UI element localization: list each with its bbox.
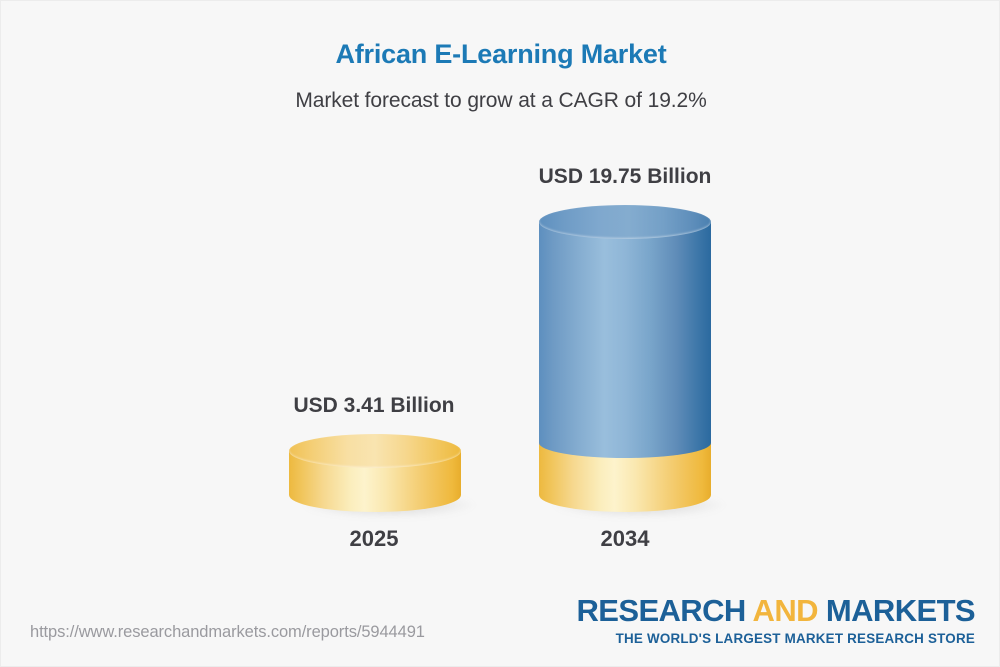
category-label-2025: 2025 <box>254 526 494 552</box>
plot-area: USD 3.41 Billion USD 19.75 Billion <box>1 131 1000 571</box>
bar-top-cap-2034 <box>539 205 711 239</box>
bar-top-cap-2025 <box>289 434 461 468</box>
brand-logo-research: RESEARCH <box>577 593 753 628</box>
chart-canvas: African E-Learning Market Market forecas… <box>0 0 1000 667</box>
bar-cylinder-2034[interactable] <box>539 205 711 512</box>
brand-logo[interactable]: RESEARCH AND MARKETS THE WORLD'S LARGEST… <box>577 595 976 645</box>
value-label-2025: USD 3.41 Billion <box>254 394 494 418</box>
brand-logo-wordmark: RESEARCH AND MARKETS <box>577 595 976 626</box>
chart-title: African E-Learning Market <box>1 39 1000 70</box>
bar-segment-boundary-2034 <box>539 428 711 458</box>
source-url[interactable]: https://www.researchandmarkets.com/repor… <box>30 623 425 642</box>
value-label-2034: USD 19.75 Billion <box>505 165 745 189</box>
bar-cylinder-2025[interactable] <box>289 434 461 512</box>
bar-body-2034 <box>539 222 711 443</box>
category-label-2034: 2034 <box>505 526 745 552</box>
brand-logo-markets: MARKETS <box>818 593 975 628</box>
brand-logo-and: AND <box>753 593 818 628</box>
chart-subtitle: Market forecast to grow at a CAGR of 19.… <box>1 89 1000 113</box>
brand-logo-tagline: THE WORLD'S LARGEST MARKET RESEARCH STOR… <box>577 632 976 645</box>
